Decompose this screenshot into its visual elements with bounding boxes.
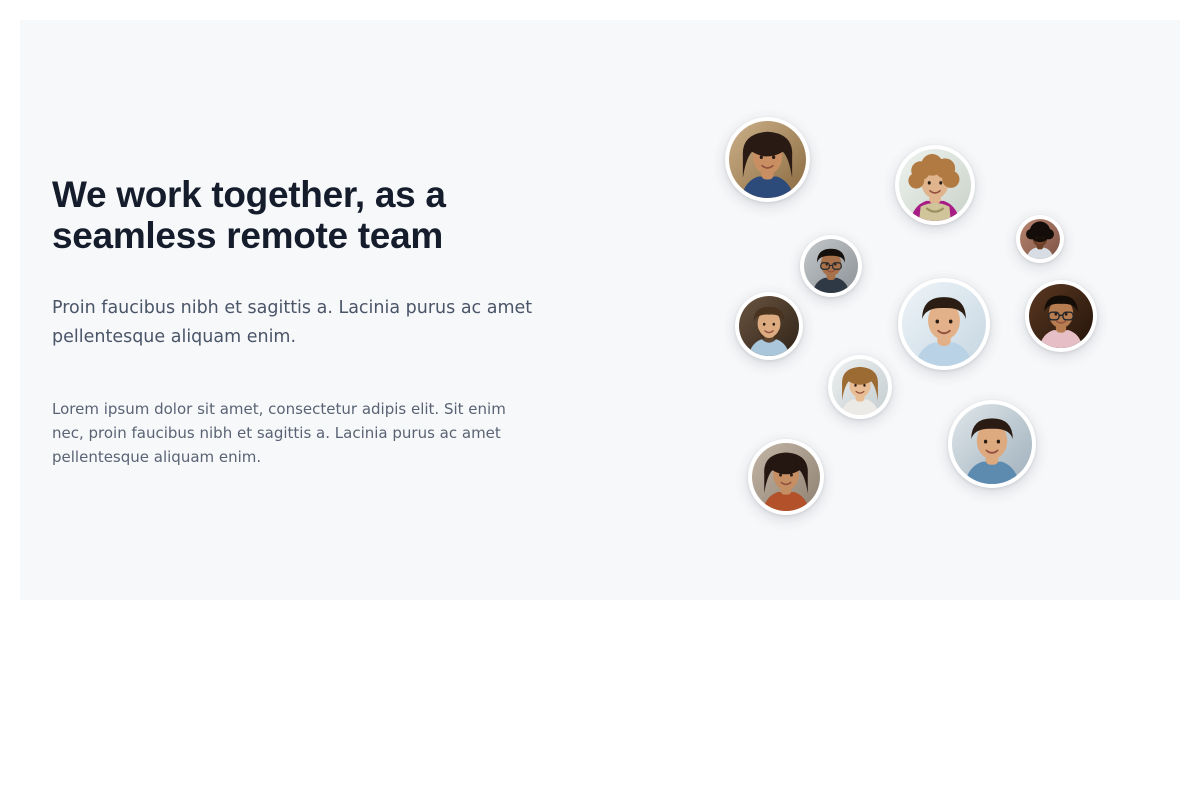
page-root: We work together, as a seamless remote t… (0, 0, 1200, 800)
hero-text-column: We work together, as a seamless remote t… (52, 175, 572, 469)
team-avatar-cluster (680, 80, 1160, 560)
hero-lead-paragraph: Proin faucibus nibh et sagittis a. Lacin… (52, 294, 552, 351)
hero-body-paragraph: Lorem ipsum dolor sit amet, consectetur … (52, 397, 542, 469)
avatar (1025, 280, 1097, 352)
avatar-photo (952, 404, 1032, 484)
avatar-photo (729, 121, 806, 198)
avatar (735, 292, 803, 360)
avatar-photo (899, 149, 971, 221)
avatar (748, 439, 824, 515)
avatar (1016, 215, 1064, 263)
avatar-photo (739, 296, 799, 356)
avatar (948, 400, 1036, 488)
page-title: We work together, as a seamless remote t… (52, 175, 572, 256)
avatar (725, 117, 810, 202)
avatar-photo (804, 239, 858, 293)
avatar-photo (832, 359, 888, 415)
avatar-photo (902, 282, 986, 366)
avatar (898, 278, 990, 370)
avatar-photo (1029, 284, 1093, 348)
avatar-photo (1020, 219, 1060, 259)
avatar (895, 145, 975, 225)
avatar-photo (752, 443, 820, 511)
hero-panel: We work together, as a seamless remote t… (20, 20, 1180, 600)
avatar (800, 235, 862, 297)
hero-inner: We work together, as a seamless remote t… (20, 20, 1180, 600)
avatar (828, 355, 892, 419)
